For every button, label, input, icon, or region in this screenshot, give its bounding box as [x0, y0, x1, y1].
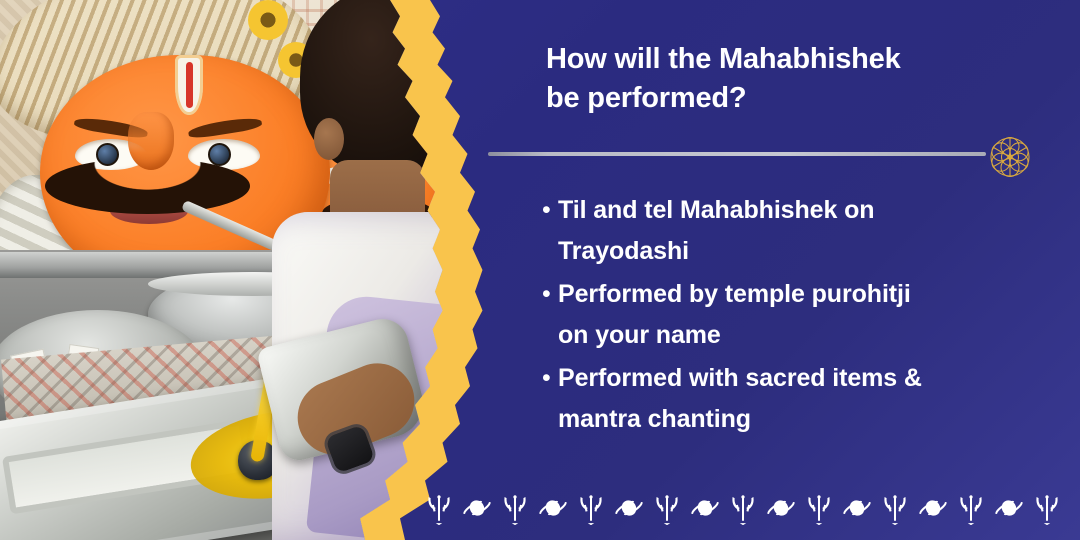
trishul-icon [876, 491, 914, 525]
trishul-icon [724, 491, 762, 525]
deity-eyebrow [187, 115, 262, 139]
trishul-icon [952, 491, 990, 525]
damru-icon [458, 491, 496, 525]
list-item-line: mantra chanting [558, 399, 922, 440]
list-item-line: Trayodashi [558, 231, 874, 272]
list-item-line: Performed with sacred items & [558, 358, 922, 399]
damru-icon [990, 491, 1028, 525]
damru-icon [610, 491, 648, 525]
damru-icon [838, 491, 876, 525]
list-item-line: on your name [558, 315, 911, 356]
damru-icon [686, 491, 724, 525]
title-line-2: be performed? [546, 79, 1016, 118]
deity-mustache [45, 158, 250, 214]
list-item-text: Performed by temple purohitji on your na… [558, 274, 911, 356]
mandala-ornament-icon [982, 129, 1038, 185]
bullet-list: • Til and tel Mahabhishek on Trayodashi … [536, 190, 1056, 442]
title-line-1: How will the Mahabhishek [546, 40, 1016, 79]
trishul-icon [572, 491, 610, 525]
damru-icon [762, 491, 800, 525]
trishul-icon [648, 491, 686, 525]
list-item: • Performed with sacred items & mantra c… [536, 358, 1056, 440]
divider-row [488, 145, 1068, 185]
deity-tilak-stripe [186, 62, 193, 108]
list-item: • Til and tel Mahabhishek on Trayodashi [536, 190, 1056, 272]
horizontal-divider [488, 152, 986, 156]
damru-icon [914, 491, 952, 525]
trishul-icon [800, 491, 838, 525]
list-item-line: Performed by temple purohitji [558, 274, 911, 315]
damru-icon [534, 491, 572, 525]
trishul-icon [496, 491, 534, 525]
bullet-marker: • [536, 274, 558, 315]
list-item-text: Til and tel Mahabhishek on Trayodashi [558, 190, 874, 272]
marigold-flower [248, 0, 288, 40]
purohit-ear [314, 118, 344, 160]
bullet-marker: • [536, 190, 558, 231]
list-item-line: Til and tel Mahabhishek on [558, 190, 874, 231]
list-item-text: Performed with sacred items & mantra cha… [558, 358, 922, 440]
list-item: • Performed by temple purohitji on your … [536, 274, 1056, 356]
trishul-icon [420, 491, 458, 525]
deity-pupil [208, 143, 231, 166]
trishul-damru-icon-strip [420, 487, 1080, 529]
bullet-marker: • [536, 358, 558, 399]
slide-canvas: How will the Mahabhishek be performed? [0, 0, 1080, 540]
trishul-icon [1028, 491, 1066, 525]
content-panel: How will the Mahabhishek be performed? [500, 0, 1080, 540]
page-title: How will the Mahabhishek be performed? [546, 40, 1016, 118]
